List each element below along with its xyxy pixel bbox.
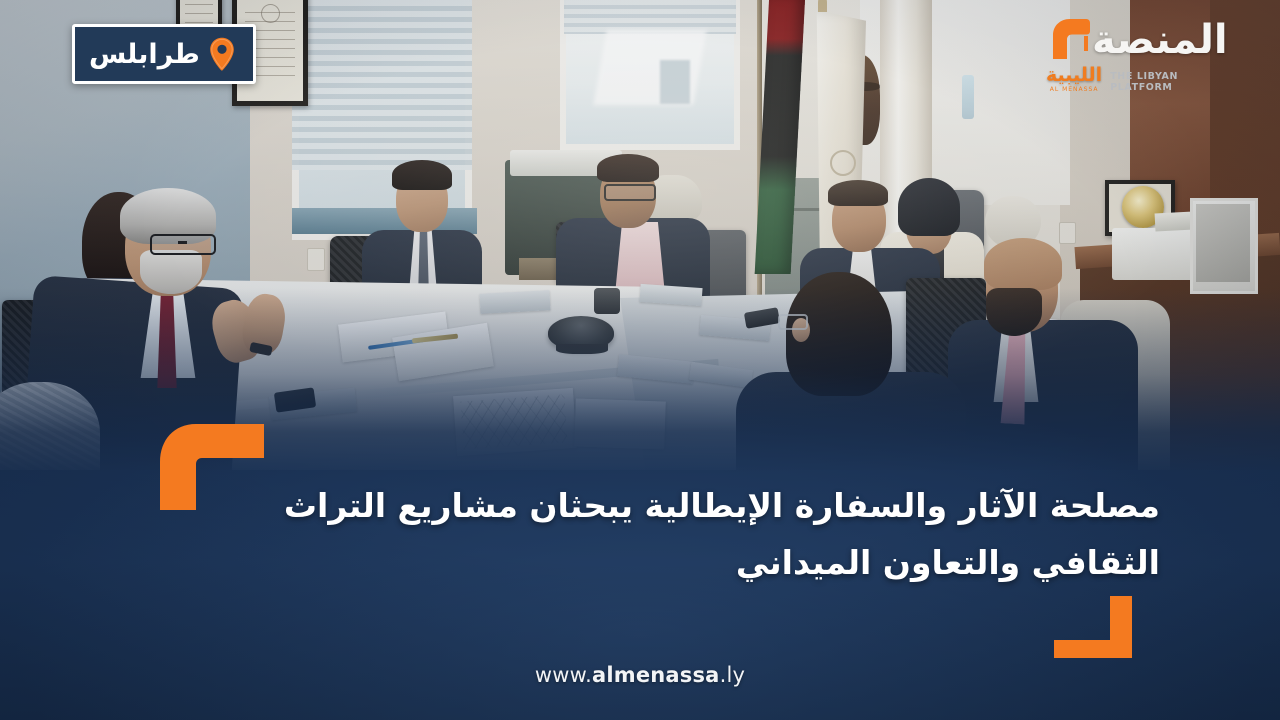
logo-arabic-subtitle: الليبية <box>1046 66 1102 85</box>
headline: مصلحة الآثار والسفارة الإيطالية يبحثان م… <box>120 478 1160 592</box>
corner-bracket-bottom-right-icon <box>1054 596 1132 658</box>
url-prefix: www. <box>535 663 592 687</box>
headline-line-1: مصلحة الآثار والسفارة الإيطالية يبحثان م… <box>120 478 1160 535</box>
almenassa-logo-mark <box>1046 16 1090 64</box>
news-card: طرابلس المنصة THE LIBYAN PLATFORM الليبي… <box>0 0 1280 720</box>
url-tld: .ly <box>720 663 746 687</box>
headline-line-2: الثقافي والتعاون الميداني <box>120 535 1160 592</box>
logo-micro-text: AL MENASSA <box>1046 86 1102 93</box>
location-badge: طرابلس <box>72 24 256 84</box>
location-label: طرابلس <box>89 41 200 68</box>
almenassa-logo[interactable]: المنصة THE LIBYAN PLATFORM الليبية AL ME… <box>1046 16 1226 94</box>
logo-arabic-name: المنصة <box>1092 20 1228 60</box>
url-name: almenassa <box>592 663 720 687</box>
map-pin-icon <box>209 37 235 71</box>
logo-english-line-2: PLATFORM <box>1110 82 1178 93</box>
logo-english-line-1: THE LIBYAN <box>1110 71 1178 82</box>
website-url[interactable]: www.almenassa.ly <box>0 663 1280 687</box>
